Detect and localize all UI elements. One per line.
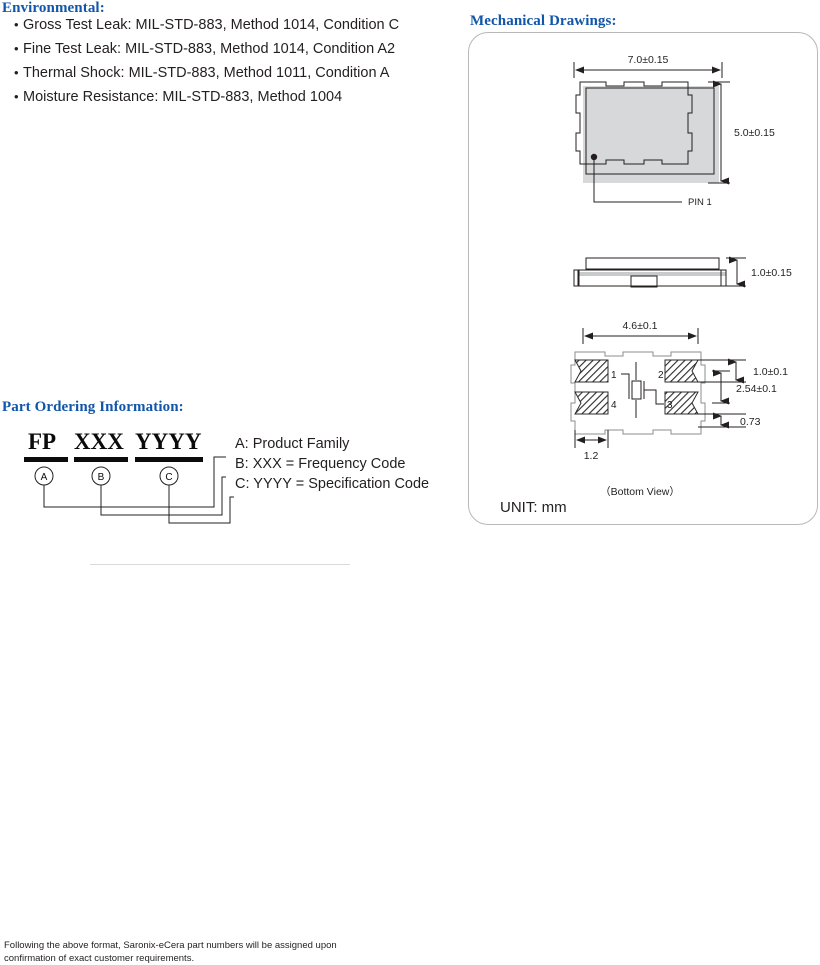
side-view-lid bbox=[586, 258, 719, 269]
unit-label: UNIT: mm bbox=[500, 499, 567, 516]
code-underline-a bbox=[24, 457, 68, 462]
code-underline-b bbox=[74, 457, 128, 462]
pad-right-top bbox=[665, 360, 698, 382]
mechanical-drawings-heading: Mechanical Drawings: bbox=[470, 13, 617, 30]
list-item: Fine Test Leak: MIL-STD-883, Method 1014… bbox=[14, 37, 399, 61]
code-field-text-c: YYYY bbox=[135, 429, 202, 454]
marker-label-b: B bbox=[98, 472, 105, 483]
marker-label-c: C bbox=[165, 472, 172, 483]
pin-number-2: 2 bbox=[658, 370, 664, 381]
top-view-width-label: 7.0±0.15 bbox=[628, 54, 669, 66]
part-number-diagram: FP A XXX B YYYY C A: Product Family B: X… bbox=[2, 425, 472, 535]
pad-left-bottom bbox=[575, 392, 608, 414]
crystal-leader-pin1 bbox=[621, 374, 629, 390]
bottom-view-pad-width-label: 1.2 bbox=[584, 450, 599, 462]
code-field-text-b: XXX bbox=[74, 429, 124, 454]
code-field-text-a: FP bbox=[28, 429, 56, 454]
pin-number-4: 4 bbox=[611, 400, 617, 411]
pin1-dot bbox=[591, 154, 597, 160]
marker-label-a: A bbox=[41, 472, 48, 483]
bottom-view-pad-height-label: 1.0±0.1 bbox=[753, 366, 788, 378]
ordering-note-line1: Following the above format, Saronix-eCer… bbox=[4, 939, 404, 952]
bottom-view-drawing: 4.6±0.1 1 2 3 bbox=[571, 320, 788, 498]
list-item: Moisture Resistance: MIL-STD-883, Method… bbox=[14, 85, 399, 109]
top-view-body-shadow bbox=[583, 86, 719, 183]
leader-line-a bbox=[44, 457, 226, 507]
pad-left-top bbox=[575, 360, 608, 382]
ordering-note-line2: confirmation of exact customer requireme… bbox=[4, 952, 404, 965]
environmental-list: Gross Test Leak: MIL-STD-883, Method 101… bbox=[14, 13, 399, 109]
code-underline-c bbox=[135, 457, 203, 462]
bottom-view-width-label: 4.6±0.1 bbox=[623, 320, 658, 332]
legend-item-c: C: YYYY = Specification Code bbox=[235, 476, 429, 492]
bottom-view-width-dimension: 4.6±0.1 bbox=[583, 320, 698, 344]
side-view-center-pad bbox=[631, 276, 657, 287]
pin-number-3: 3 bbox=[667, 400, 673, 411]
side-view-thickness-label: 1.0±0.15 bbox=[751, 267, 792, 279]
leader-line-c bbox=[169, 485, 234, 523]
legend-item-b: B: XXX = Frequency Code bbox=[235, 456, 405, 472]
crystal-leader-pin3 bbox=[644, 390, 664, 404]
side-view-thickness-dimension: 1.0±0.15 bbox=[726, 258, 792, 286]
next-panel-edge bbox=[90, 564, 350, 565]
bottom-view-pad-height-dimension: 1.0±0.1 bbox=[698, 360, 788, 382]
top-view-width-dimension: 7.0±0.15 bbox=[574, 54, 722, 78]
side-view-drawing: 1.0±0.15 bbox=[574, 258, 792, 287]
ordering-note: Following the above format, Saronix-eCer… bbox=[4, 939, 404, 965]
top-view-height-label: 5.0±0.15 bbox=[734, 127, 775, 139]
mechanical-drawings-canvas: 7.0±0.15 PIN 1 5.0±0.15 bbox=[468, 32, 818, 525]
pin1-label: PIN 1 bbox=[688, 197, 712, 208]
bottom-view-pad-width-dimension: 1.2 bbox=[575, 430, 608, 462]
pin-number-1: 1 bbox=[611, 370, 617, 381]
part-ordering-heading: Part Ordering Information: bbox=[2, 399, 184, 416]
top-view-drawing: 7.0±0.15 PIN 1 5.0±0.15 bbox=[574, 54, 775, 208]
bottom-view-caption: （Bottom View） bbox=[600, 486, 680, 498]
environmental-section: Environmental: Gross Test Leak: MIL-STD-… bbox=[2, 0, 105, 17]
bottom-view-edge-dimension: 0.73 bbox=[698, 414, 761, 428]
legend-item-a: A: Product Family bbox=[235, 436, 350, 452]
list-item: Thermal Shock: MIL-STD-883, Method 1011,… bbox=[14, 61, 399, 85]
bottom-view-edge-label: 0.73 bbox=[740, 416, 761, 428]
bottom-view-pitch-label: 2.54±0.1 bbox=[736, 383, 777, 395]
list-item: Gross Test Leak: MIL-STD-883, Method 101… bbox=[14, 13, 399, 37]
side-view-body-shadow bbox=[578, 272, 726, 276]
